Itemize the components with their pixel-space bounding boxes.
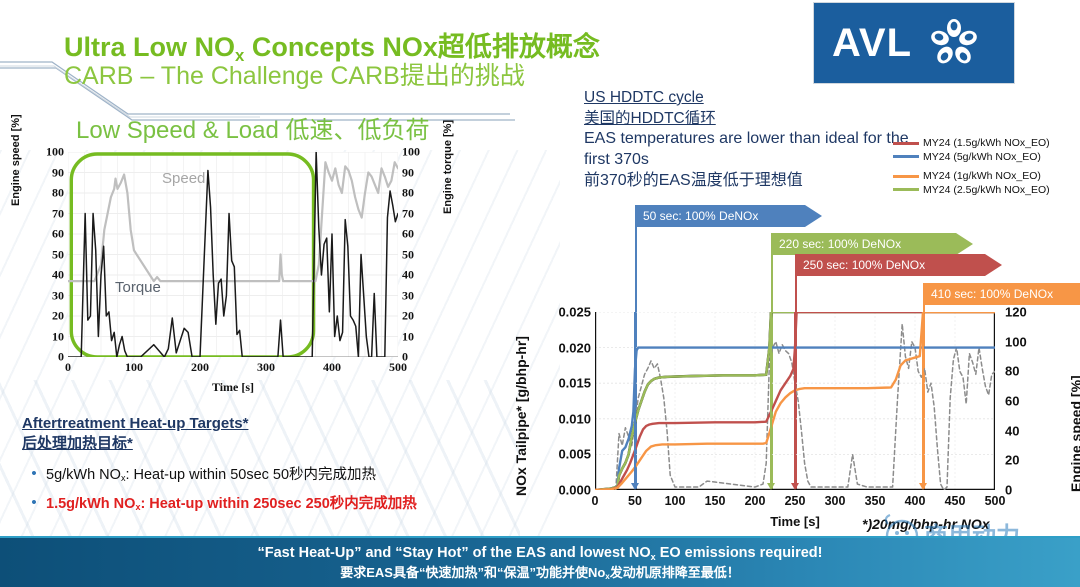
hddtc-line-3: EAS temperatures are lower than ideal fo… xyxy=(584,129,914,171)
right-chart-x-tick: 400 xyxy=(905,494,926,508)
bullet-text: 1.5g/kWh NOx: Heat-up within 250sec 250秒… xyxy=(46,495,417,513)
left-chart-series-label-torque: Torque xyxy=(115,279,161,296)
right-chart-y2-tick: 120 xyxy=(1005,305,1027,320)
right-chart-y-tick: 0.015 xyxy=(558,376,591,391)
callout-arrow-head xyxy=(985,254,1002,276)
legend-label: MY24 (1.5g/kWh NOx_EO) xyxy=(923,138,1050,149)
left-chart-y2-tick: 80 xyxy=(402,186,414,201)
left-chart-x-ticks: 0100200300400500 xyxy=(68,360,398,378)
left-chart-series-label-speed: Speed xyxy=(162,170,205,187)
right-chart-x-tick: 50 xyxy=(628,494,642,508)
title-line-2: CARB – The Challenge CARB提出的挑战 xyxy=(64,62,764,91)
callout-body: 50 sec: 100% DeNOx xyxy=(635,205,805,227)
left-chart-y-tick: 10 xyxy=(52,329,64,344)
right-chart-legend: MY24 (1.5g/kWh NOx_EO)MY24 (5g/kWh NOx_E… xyxy=(893,138,1078,198)
callout-label: 410 sec: 100% DeNOx xyxy=(931,287,1053,301)
left-chart-y2-ticks: 0102030405060708090100 xyxy=(402,146,434,357)
legend-item[interactable]: MY24 (1.5g/kWh NOx_EO) xyxy=(893,138,1078,149)
callout-label: 220 sec: 100% DeNOx xyxy=(779,237,901,251)
left-chart-y-tick: 0 xyxy=(58,350,64,365)
denox-callout[interactable]: 250 sec: 100% DeNOx xyxy=(795,254,1002,276)
right-chart-y-ticks: 0.0000.0050.0100.0150.0200.025 xyxy=(531,312,591,490)
hddtc-line-2: 美国的HDDTC循环 xyxy=(584,109,914,130)
legend-color-swatch xyxy=(893,155,919,158)
legend-item[interactable]: MY24 (5g/kWh NOx_EO) xyxy=(893,152,1078,163)
callout-body: 220 sec: 100% DeNOx xyxy=(771,233,956,255)
left-chart-y2-tick: 30 xyxy=(402,288,414,303)
avl-logo-text: AVL xyxy=(832,23,912,63)
left-chart-y2-tick: 20 xyxy=(402,309,414,324)
right-chart-y-tick: 0.025 xyxy=(558,305,591,320)
right-chart-x-tick: 450 xyxy=(945,494,966,508)
subscript-x: x xyxy=(135,502,140,512)
left-chart-x-tick: 400 xyxy=(323,360,341,375)
title-line-1: Ultra Low NOx Concepts NOx超低排放概念 xyxy=(64,32,764,62)
left-chart-y-tick: 50 xyxy=(52,247,64,262)
slide: Ultra Low NOx Concepts NOx超低排放概念 CARB – … xyxy=(0,0,1080,587)
list-item: •1.5g/kWh NOx: Heat-up within 250sec 250… xyxy=(22,495,522,513)
legend-label: MY24 (1g/kWh NOx_EO) xyxy=(923,171,1041,182)
banner-line-1: “Fast Heat-Up” and “Stay Hot” of the EAS… xyxy=(258,544,823,564)
left-chart-y-tick: 20 xyxy=(52,309,64,324)
left-chart-y2-tick: 90 xyxy=(402,165,414,180)
avl-flower-icon xyxy=(928,17,980,69)
aftertreatment-heatup-targets: Aftertreatment Heat-up Targets* 后处理加热目标*… xyxy=(22,414,522,513)
list-item: •5g/kWh NOx: Heat-up within 50sec 50秒内完成… xyxy=(22,466,522,484)
left-chart-y2-tick: 70 xyxy=(402,206,414,221)
denox-callout[interactable]: 220 sec: 100% DeNOx xyxy=(771,233,973,255)
right-chart-x-tick: 0 xyxy=(592,494,599,508)
chart-nox-tailpipe: NOx Tailpipe* [g/bhp-hr] Engine speed [%… xyxy=(505,300,1080,540)
right-chart-y2-ticks: 020406080100120 xyxy=(1005,312,1045,490)
legend-color-swatch xyxy=(893,142,919,145)
subscript-x: x xyxy=(121,473,126,483)
left-chart-y2-tick: 60 xyxy=(402,227,414,242)
right-chart-x-ticks: 050100150200250300350400450500 xyxy=(595,494,995,512)
page-title: Ultra Low NOx Concepts NOx超低排放概念 CARB – … xyxy=(64,32,764,91)
right-chart-y2-tick: 40 xyxy=(1005,423,1019,438)
left-chart-y-tick: 100 xyxy=(46,145,64,160)
right-chart-y2-tick: 20 xyxy=(1005,453,1019,468)
hddtc-line-4: 前370秒的EAS温度低于理想值 xyxy=(584,171,914,192)
left-chart-x-tick: 200 xyxy=(191,360,209,375)
left-chart-x-tick: 300 xyxy=(257,360,275,375)
legend-label: MY24 (5g/kWh NOx_EO) xyxy=(923,152,1041,163)
left-chart-y-tick: 60 xyxy=(52,227,64,242)
hddtc-description: US HDDTC cycle 美国的HDDTC循环 EAS temperatur… xyxy=(584,88,914,192)
hddtc-line-1: US HDDTC cycle xyxy=(584,88,914,109)
left-chart-y-tick: 40 xyxy=(52,268,64,283)
left-chart-y2-tick: 100 xyxy=(402,145,420,160)
left-chart-x-tick: 0 xyxy=(65,360,71,375)
right-chart-x-tick: 250 xyxy=(785,494,806,508)
right-chart-x-tick: 200 xyxy=(745,494,766,508)
banner-line-2: 要求EAS具备“快速加热”和“保温”功能并使Nox发动机原排降至最低！ xyxy=(340,564,740,582)
denox-callout[interactable]: 50 sec: 100% DeNOx xyxy=(635,205,822,227)
left-chart-y2-tick: 10 xyxy=(402,329,414,344)
heatup-title-cn: 后处理加热目标* xyxy=(22,434,522,454)
left-chart-y2-tick: 40 xyxy=(402,268,414,283)
nox-footnote: *)20mg/bhp-hr NOx xyxy=(862,516,990,532)
bottom-banner: “Fast Heat-Up” and “Stay Hot” of the EAS… xyxy=(0,538,1080,587)
right-chart-x-tick: 150 xyxy=(705,494,726,508)
chart-engine-operating-cycle: Engine speed [%] Engine torque [%] 01020… xyxy=(10,146,450,406)
right-chart-y-axis-label: NOx Tailpipe* [g/bhp-hr] xyxy=(513,336,529,496)
right-chart-y2-tick: 0 xyxy=(1005,483,1012,498)
left-chart-y-tick: 70 xyxy=(52,206,64,221)
legend-label: MY24 (2.5g/kWh NOx_EO) xyxy=(923,185,1050,196)
left-chart-y-axis-label: Engine speed [%] xyxy=(10,114,22,206)
bullet-text: 5g/kWh NOx: Heat-up within 50sec 50秒内完成加… xyxy=(46,466,376,484)
right-chart-y2-tick: 100 xyxy=(1005,334,1027,349)
heatup-title-en: Aftertreatment Heat-up Targets* xyxy=(22,414,522,434)
right-chart-x-tick: 500 xyxy=(985,494,1006,508)
right-chart-x-tick: 100 xyxy=(665,494,686,508)
left-chart-y-tick: 90 xyxy=(52,165,64,180)
left-chart-y-ticks: 0102030405060708090100 xyxy=(32,146,64,357)
left-chart-y-tick: 30 xyxy=(52,288,64,303)
callout-arrow-head xyxy=(956,233,973,255)
avl-logo: AVL xyxy=(814,3,1014,83)
left-chart-x-axis-label: Time [s] xyxy=(68,380,398,395)
legend-item[interactable]: MY24 (2.5g/kWh NOx_EO) xyxy=(893,185,1078,196)
bullet-marker: • xyxy=(22,495,46,512)
left-chart-x-tick: 100 xyxy=(125,360,143,375)
right-chart-x-tick: 300 xyxy=(825,494,846,508)
left-chart-y-tick: 80 xyxy=(52,186,64,201)
callout-arrow-head xyxy=(805,205,822,227)
left-chart-x-tick: 500 xyxy=(389,360,407,375)
right-chart-y2-tick: 60 xyxy=(1005,394,1019,409)
bullet-marker: • xyxy=(22,466,46,483)
callout-label: 50 sec: 100% DeNOx xyxy=(643,209,758,223)
legend-color-swatch xyxy=(893,188,919,191)
left-chart-plot xyxy=(68,152,398,357)
left-chart-y2-axis-label: Engine torque [%] xyxy=(442,120,454,214)
heatup-bullet-list: •5g/kWh NOx: Heat-up within 50sec 50秒内完成… xyxy=(22,466,522,513)
left-chart-y2-tick: 50 xyxy=(402,247,414,262)
right-chart-y-tick: 0.010 xyxy=(558,411,591,426)
right-chart-y2-axis-label: Engine speed [%] xyxy=(1068,375,1080,492)
left-chart-subtitle: Low Speed & Load 低速、低负荷 xyxy=(76,110,430,145)
legend-item[interactable]: MY24 (1g/kWh NOx_EO) xyxy=(893,171,1078,182)
callout-body: 250 sec: 100% DeNOx xyxy=(795,254,985,276)
right-chart-y2-tick: 80 xyxy=(1005,364,1019,379)
legend-color-swatch xyxy=(893,175,919,178)
right-chart-x-tick: 350 xyxy=(865,494,886,508)
callout-label: 250 sec: 100% DeNOx xyxy=(803,258,925,272)
right-chart-y-tick: 0.005 xyxy=(558,447,591,462)
right-chart-y-tick: 0.020 xyxy=(558,340,591,355)
right-chart-plot xyxy=(595,312,995,490)
right-chart-y-tick: 0.000 xyxy=(558,483,591,498)
